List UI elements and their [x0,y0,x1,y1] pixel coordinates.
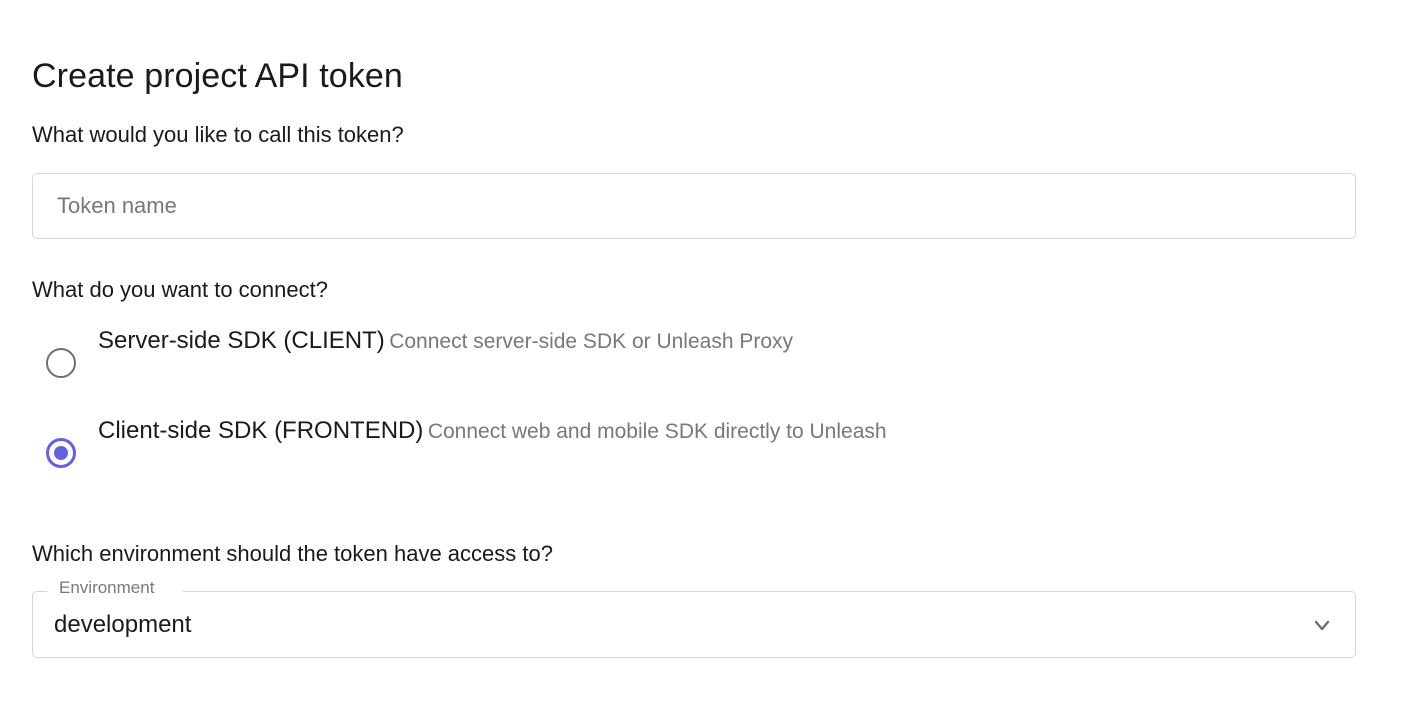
connect-type-label: What do you want to connect? [32,276,328,305]
environment-select[interactable]: Environment development [32,591,1356,658]
radio-checked-icon [44,436,78,470]
create-api-token-dialog: Create project API token What would you … [0,0,1404,716]
radio-option-client-side-sdk[interactable]: Client-side SDK (FRONTEND) Connect web a… [0,416,1404,506]
page-title: Create project API token [32,56,403,97]
environment-select-outline[interactable] [32,591,1356,658]
radio-option-text: Server-side SDK (CLIENT) Connect server-… [98,326,793,356]
environment-selected-value: development [54,609,191,640]
radio-option-server-side-sdk[interactable]: Server-side SDK (CLIENT) Connect server-… [0,326,1404,416]
token-name-input[interactable] [32,173,1356,239]
radio-option-description: Connect web and mobile SDK directly to U… [428,420,887,443]
radio-option-text: Client-side SDK (FRONTEND) Connect web a… [98,416,887,446]
environment-question-label: Which environment should the token have … [32,540,553,569]
connect-type-radio-group: Server-side SDK (CLIENT) Connect server-… [0,326,1404,506]
radio-option-title: Client-side SDK (FRONTEND) [98,417,423,444]
chevron-down-icon[interactable] [1310,613,1334,637]
environment-field-label: Environment [54,578,159,598]
radio-unchecked-icon [44,346,78,380]
token-name-label: What would you like to call this token? [32,121,404,150]
radio-option-title: Server-side SDK (CLIENT) [98,327,385,354]
radio-option-description: Connect server-side SDK or Unleash Proxy [389,330,793,353]
